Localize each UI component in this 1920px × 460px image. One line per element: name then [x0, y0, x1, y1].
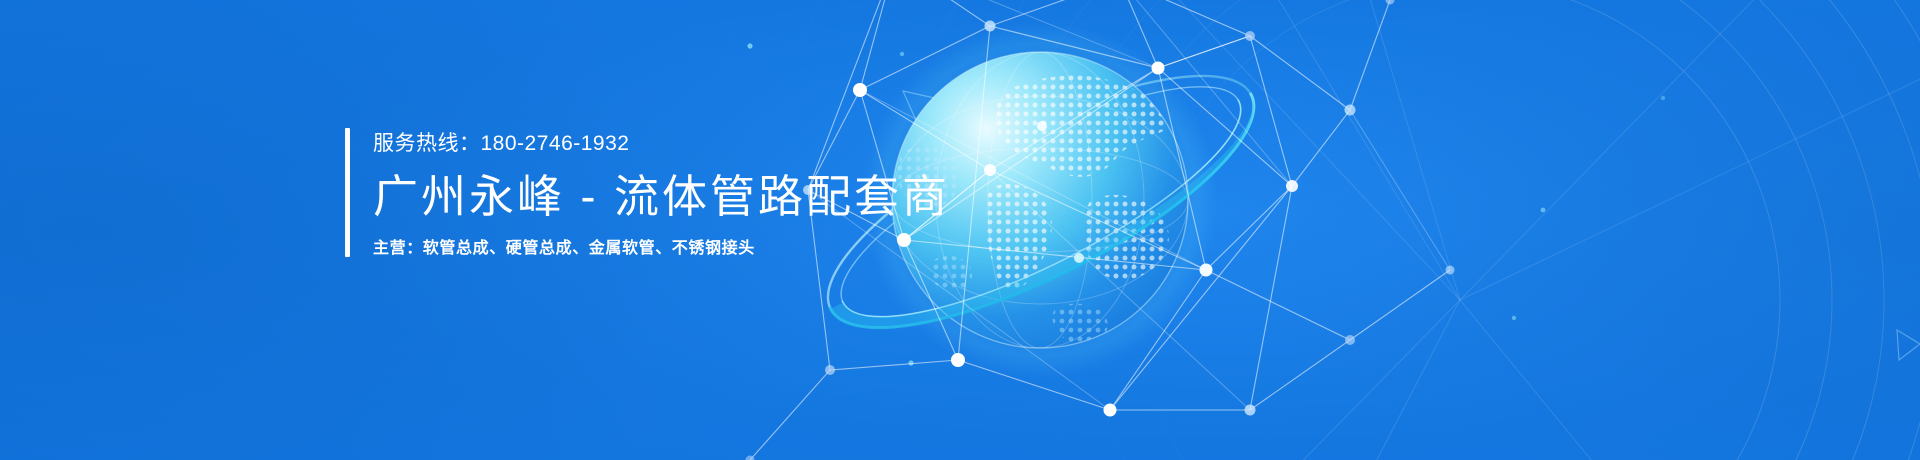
headline-text: 广州永峰 - 流体管路配套商 [373, 174, 950, 219]
promo-banner: 服务热线：180-2746-1932 广州永峰 - 流体管路配套商 主营：软管总… [0, 0, 1920, 460]
hotline-text: 服务热线：180-2746-1932 [373, 133, 950, 154]
text-lines: 服务热线：180-2746-1932 广州永峰 - 流体管路配套商 主营：软管总… [373, 128, 950, 257]
banner-text-block: 服务热线：180-2746-1932 广州永峰 - 流体管路配套商 主营：软管总… [345, 128, 950, 257]
subtitle-text: 主营：软管总成、硬管总成、金属软管、不锈钢接头 [373, 241, 950, 257]
accent-bar [345, 128, 350, 257]
background-arc-grid [0, 0, 1920, 460]
